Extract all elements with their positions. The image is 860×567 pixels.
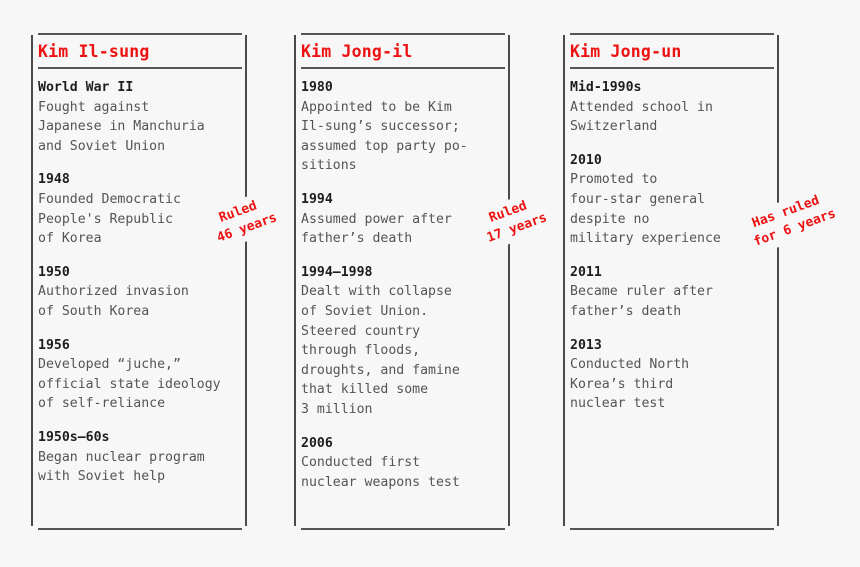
timeline-entry: 1950 Authorized invasion of South Korea xyxy=(38,263,242,322)
column-rail-right xyxy=(508,35,510,526)
entry-year: World War II xyxy=(38,78,242,98)
column-rule-top xyxy=(301,33,505,35)
entry-text: Conducted North Korea’s third nuclear te… xyxy=(570,355,774,414)
column-rail-left xyxy=(563,35,565,526)
entry-year: 2006 xyxy=(301,434,505,454)
entry-year: 1994–1998 xyxy=(301,263,505,283)
entry-year: 2010 xyxy=(570,151,774,171)
entry-year: 1950s–60s xyxy=(38,428,242,448)
entry-year: 1980 xyxy=(301,78,505,98)
entry-year: 1994 xyxy=(301,190,505,210)
entry-text: Became ruler after father’s death xyxy=(570,282,774,321)
entry-text: Fought against Japanese in Manchuria and… xyxy=(38,98,242,157)
entry-list: World War II Fought against Japanese in … xyxy=(38,78,242,487)
timeline-entry: 2011 Became ruler after father’s death xyxy=(570,263,774,322)
timeline-column-kim-il-sung: Kim Il-sung World War II Fought against … xyxy=(31,33,247,530)
timeline-entry: Mid-1990s Attended school in Switzerland xyxy=(570,78,774,137)
timeline-column-kim-jong-un: Kim Jong-un Mid-1990s Attended school in… xyxy=(563,33,779,530)
timeline-column-kim-jong-il: Kim Jong-il 1980 Appointed to be Kim Il-… xyxy=(294,33,510,530)
timeline-entry: 1956 Developed “juche,” official state i… xyxy=(38,336,242,414)
column-rule-top xyxy=(38,33,242,35)
entry-text: Appointed to be Kim Il-sung’s successor;… xyxy=(301,98,505,176)
timeline-entry: 1980 Appointed to be Kim Il-sung’s succe… xyxy=(301,78,505,176)
column-body: Kim Il-sung World War II Fought against … xyxy=(38,36,242,528)
timeline-entry: 2006 Conducted first nuclear weapons tes… xyxy=(301,434,505,493)
leader-timeline-board: Kim Il-sung World War II Fought against … xyxy=(0,0,860,567)
timeline-entry: 1950s–60s Began nuclear program with Sov… xyxy=(38,428,242,487)
entry-text: Began nuclear program with Soviet help xyxy=(38,448,242,487)
column-rule-bottom xyxy=(38,528,242,530)
entry-list: 1980 Appointed to be Kim Il-sung’s succe… xyxy=(301,78,505,492)
column-rail-left xyxy=(294,35,296,526)
column-rail-right xyxy=(245,35,247,526)
column-title: Kim Jong-un xyxy=(570,36,774,67)
timeline-entry: World War II Fought against Japanese in … xyxy=(38,78,242,156)
column-body: Kim Jong-un Mid-1990s Attended school in… xyxy=(570,36,774,528)
column-body: Kim Jong-il 1980 Appointed to be Kim Il-… xyxy=(301,36,505,528)
column-rule-bottom xyxy=(570,528,774,530)
entry-year: Mid-1990s xyxy=(570,78,774,98)
entry-text: Attended school in Switzerland xyxy=(570,98,774,137)
entry-text: Conducted first nuclear weapons test xyxy=(301,453,505,492)
timeline-entry: 1994–1998 Dealt with collapse of Soviet … xyxy=(301,263,505,420)
column-title: Kim Jong-il xyxy=(301,36,505,67)
column-rail-left xyxy=(31,35,33,526)
entry-year: 1948 xyxy=(38,170,242,190)
column-rule-bottom xyxy=(301,528,505,530)
timeline-entry: 2013 Conducted North Korea’s third nucle… xyxy=(570,336,774,414)
column-rail-right xyxy=(777,35,779,526)
column-title: Kim Il-sung xyxy=(38,36,242,67)
entry-year: 1950 xyxy=(38,263,242,283)
entry-text: Developed “juche,” official state ideolo… xyxy=(38,355,242,414)
entry-year: 2013 xyxy=(570,336,774,356)
entry-year: 2011 xyxy=(570,263,774,283)
entry-text: Authorized invasion of South Korea xyxy=(38,282,242,321)
column-rule-top xyxy=(570,33,774,35)
entry-text: Dealt with collapse of Soviet Union. Ste… xyxy=(301,282,505,419)
entry-year: 1956 xyxy=(38,336,242,356)
